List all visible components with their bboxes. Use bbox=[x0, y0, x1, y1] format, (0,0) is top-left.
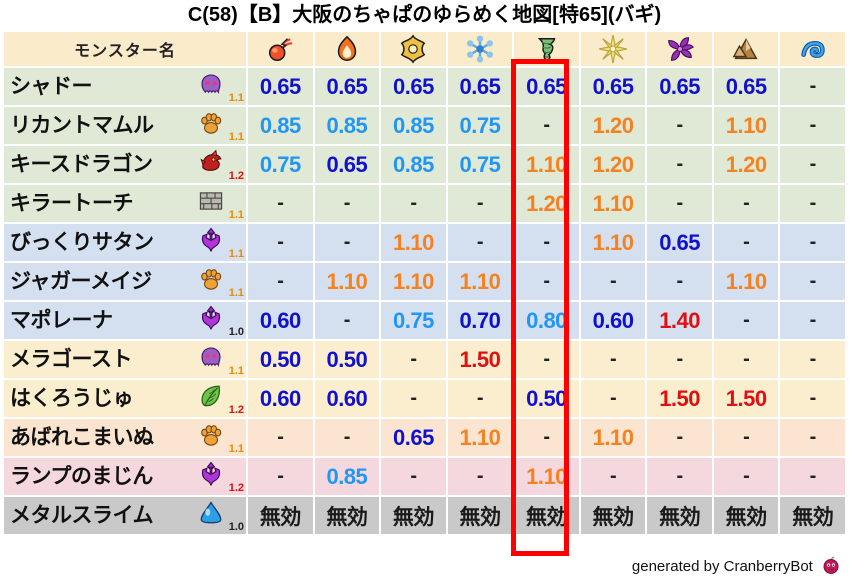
header-element-ヒャド bbox=[448, 32, 513, 66]
resistance-cell: 0.65 bbox=[514, 68, 579, 105]
monster-name-label: ジャガーメイジ bbox=[4, 263, 152, 300]
resistance-cell: 0.60 bbox=[248, 302, 313, 339]
resistance-cell: - bbox=[581, 458, 646, 495]
monster-multiplier: 1.1 bbox=[229, 249, 244, 260]
resistance-cell: - bbox=[714, 341, 779, 378]
monster-name-cell: キラートーチ1.1 bbox=[4, 185, 246, 222]
resistance-cell: 1.50 bbox=[714, 380, 779, 417]
resistance-cell: 無効 bbox=[647, 497, 712, 534]
monster-name-cell: リカントマムル1.1 bbox=[4, 107, 246, 144]
monster-name-label: あばれこまいぬ bbox=[4, 419, 154, 456]
resistance-cell: 1.10 bbox=[381, 224, 446, 261]
resistance-cell: 0.75 bbox=[381, 302, 446, 339]
resistance-cell: 0.85 bbox=[381, 146, 446, 183]
resistance-cell: 1.10 bbox=[448, 263, 513, 300]
resistance-cell: 無効 bbox=[381, 497, 446, 534]
resistance-cell: 0.60 bbox=[248, 380, 313, 417]
resistance-cell: 無効 bbox=[248, 497, 313, 534]
resistance-cell: - bbox=[514, 224, 579, 261]
monster-multiplier: 1.2 bbox=[229, 171, 244, 182]
resistance-cell: 無効 bbox=[714, 497, 779, 534]
header-monster-name: モンスター名 bbox=[4, 32, 246, 66]
resistance-cell: 1.50 bbox=[448, 341, 513, 378]
resistance-cell: 1.20 bbox=[581, 107, 646, 144]
table-row: びっくりサタン1.1--1.10--1.100.65-- bbox=[4, 224, 845, 261]
resistance-cell: 0.80 bbox=[514, 302, 579, 339]
resistance-cell: 0.65 bbox=[448, 68, 513, 105]
resistance-cell: 0.60 bbox=[581, 302, 646, 339]
monster-name-label: リカントマムル bbox=[4, 107, 154, 144]
resistance-cell: - bbox=[780, 185, 845, 222]
resistance-cell: - bbox=[315, 224, 380, 261]
resistance-cell: 1.10 bbox=[514, 146, 579, 183]
resistance-cell: - bbox=[315, 419, 380, 456]
resistance-cell: - bbox=[780, 68, 845, 105]
monster-name-label: ランプのまじん bbox=[4, 458, 153, 495]
resistance-table: モンスター名 シャドー1.10.650.650.650.650.650.650.… bbox=[2, 30, 847, 536]
resistance-cell: 1.10 bbox=[581, 419, 646, 456]
resistance-cell: - bbox=[248, 185, 313, 222]
resistance-cell: 0.50 bbox=[248, 341, 313, 378]
resistance-cell: 1.10 bbox=[381, 263, 446, 300]
monster-multiplier: 1.1 bbox=[229, 210, 244, 221]
resistance-cell: 0.65 bbox=[647, 68, 712, 105]
resistance-cell: - bbox=[714, 224, 779, 261]
footer-credit: generated by CranberryBot bbox=[632, 555, 841, 579]
mountain-icon bbox=[731, 40, 761, 57]
resistance-cell: 1.10 bbox=[581, 185, 646, 222]
wave-icon bbox=[798, 40, 828, 57]
resistance-cell: - bbox=[514, 419, 579, 456]
resistance-cell: 0.65 bbox=[315, 146, 380, 183]
table-row: メラゴースト1.10.500.50-1.50----- bbox=[4, 341, 845, 378]
resistance-cell: - bbox=[381, 380, 446, 417]
resistance-cell: - bbox=[248, 263, 313, 300]
resistance-cell: 0.60 bbox=[315, 380, 380, 417]
snowflake-icon bbox=[465, 40, 495, 57]
monster-name-label: キラートーチ bbox=[4, 185, 133, 222]
header-element-イオ bbox=[381, 32, 446, 66]
resistance-cell: - bbox=[780, 380, 845, 417]
monster-name-cell: ランプのまじん1.2 bbox=[4, 458, 246, 495]
resistance-cell: 1.20 bbox=[514, 185, 579, 222]
monster-name-cell: マポレーナ1.0 bbox=[4, 302, 246, 339]
resistance-cell: - bbox=[714, 185, 779, 222]
resistance-cell: - bbox=[315, 185, 380, 222]
resistance-cell: 1.50 bbox=[647, 380, 712, 417]
resistance-cell: - bbox=[714, 302, 779, 339]
table-row: あばれこまいぬ1.1--0.651.10-1.10--- bbox=[4, 419, 845, 456]
lightning-star-icon bbox=[598, 40, 628, 57]
header-element-ギラ bbox=[315, 32, 380, 66]
table-row: メタルスライム1.0無効無効無効無効無効無効無効無効無効 bbox=[4, 497, 845, 534]
monster-multiplier: 1.0 bbox=[229, 522, 244, 533]
footer-credit-text: generated by CranberryBot bbox=[632, 558, 813, 575]
cranberry-icon bbox=[821, 555, 841, 579]
monster-name-label: はくろうじゅ bbox=[4, 380, 133, 417]
resistance-cell: - bbox=[248, 224, 313, 261]
resistance-cell: - bbox=[581, 263, 646, 300]
resistance-cell: 0.65 bbox=[248, 68, 313, 105]
resistance-cell: - bbox=[780, 458, 845, 495]
monster-multiplier: 1.0 bbox=[229, 327, 244, 338]
resistance-cell: 0.65 bbox=[647, 224, 712, 261]
monster-multiplier: 1.1 bbox=[229, 366, 244, 377]
monster-name-label: シャドー bbox=[4, 68, 92, 105]
resistance-cell: 0.65 bbox=[581, 68, 646, 105]
resistance-cell: - bbox=[647, 107, 712, 144]
resistance-cell: 0.85 bbox=[315, 107, 380, 144]
resistance-cell: - bbox=[780, 263, 845, 300]
monster-multiplier: 1.1 bbox=[229, 444, 244, 455]
monster-multiplier: 1.1 bbox=[229, 93, 244, 104]
resistance-cell: - bbox=[581, 341, 646, 378]
resistance-cell: 1.10 bbox=[714, 263, 779, 300]
resistance-cell: - bbox=[581, 380, 646, 417]
monster-multiplier: 1.2 bbox=[229, 483, 244, 494]
resistance-cell: 0.75 bbox=[448, 146, 513, 183]
table-row: シャドー1.10.650.650.650.650.650.650.650.65- bbox=[4, 68, 845, 105]
table-body: シャドー1.10.650.650.650.650.650.650.650.65-… bbox=[4, 68, 845, 534]
resistance-cell: - bbox=[780, 146, 845, 183]
resistance-cell: - bbox=[780, 419, 845, 456]
page-title: C(58)【B】大阪のちゃぱのゆらめく地図[特65](バギ) bbox=[0, 0, 849, 30]
resistance-cell: 0.50 bbox=[514, 380, 579, 417]
resistance-cell: - bbox=[647, 263, 712, 300]
monster-multiplier: 1.2 bbox=[229, 405, 244, 416]
resistance-cell: - bbox=[248, 458, 313, 495]
explosion-icon bbox=[398, 40, 428, 57]
resistance-cell: 0.85 bbox=[381, 107, 446, 144]
resistance-cell: 1.10 bbox=[581, 224, 646, 261]
monster-name-cell: びっくりサタン1.1 bbox=[4, 224, 246, 261]
resistance-cell: - bbox=[448, 380, 513, 417]
resistance-cell: - bbox=[514, 107, 579, 144]
monster-name-label: キースドラゴン bbox=[4, 146, 152, 183]
header-element-ジバリア bbox=[714, 32, 779, 66]
resistance-cell: - bbox=[315, 302, 380, 339]
resistance-cell: 0.65 bbox=[381, 419, 446, 456]
resistance-cell: - bbox=[647, 185, 712, 222]
resistance-cell: - bbox=[448, 224, 513, 261]
resistance-cell: - bbox=[780, 107, 845, 144]
table-row: リカントマムル1.10.850.850.850.75-1.20-1.10- bbox=[4, 107, 845, 144]
resistance-cell: - bbox=[714, 419, 779, 456]
resistance-cell: 1.40 bbox=[647, 302, 712, 339]
resistance-cell: 0.65 bbox=[381, 68, 446, 105]
table-row: キラートーチ1.1----1.201.10--- bbox=[4, 185, 845, 222]
header-element-ドルマ bbox=[647, 32, 712, 66]
header-monster-name-label: モンスター名 bbox=[74, 43, 176, 60]
header-element-ドルイド bbox=[780, 32, 845, 66]
resistance-cell: 0.85 bbox=[248, 107, 313, 144]
resistance-cell: - bbox=[248, 419, 313, 456]
monster-multiplier: 1.1 bbox=[229, 132, 244, 143]
resistance-cell: 1.10 bbox=[514, 458, 579, 495]
resistance-cell: - bbox=[780, 341, 845, 378]
resistance-cell: 1.10 bbox=[714, 107, 779, 144]
resistance-cell: 1.20 bbox=[581, 146, 646, 183]
resistance-cell: 1.10 bbox=[448, 419, 513, 456]
resistance-cell: - bbox=[381, 458, 446, 495]
resistance-cell: 0.70 bbox=[448, 302, 513, 339]
table-row: ランプのまじん1.2-0.85--1.10---- bbox=[4, 458, 845, 495]
resistance-table-wrapper: モンスター名 シャドー1.10.650.650.650.650.650.650.… bbox=[0, 30, 849, 536]
monster-name-cell: はくろうじゅ1.2 bbox=[4, 380, 246, 417]
resistance-cell: - bbox=[780, 224, 845, 261]
monster-name-cell: あばれこまいぬ1.1 bbox=[4, 419, 246, 456]
flame-icon bbox=[332, 40, 362, 57]
resistance-cell: 1.10 bbox=[315, 263, 380, 300]
monster-name-cell: シャドー1.1 bbox=[4, 68, 246, 105]
table-header-row: モンスター名 bbox=[4, 32, 845, 66]
header-element-デイン bbox=[581, 32, 646, 66]
monster-multiplier: 1.1 bbox=[229, 288, 244, 299]
resistance-cell: 0.65 bbox=[315, 68, 380, 105]
header-element-メラ bbox=[248, 32, 313, 66]
resistance-cell: - bbox=[647, 146, 712, 183]
table-row: マポレーナ1.00.60-0.750.700.800.601.40-- bbox=[4, 302, 845, 339]
resistance-cell: 1.20 bbox=[714, 146, 779, 183]
resistance-cell: 無効 bbox=[780, 497, 845, 534]
monster-name-label: マポレーナ bbox=[4, 302, 113, 339]
resistance-cell: 0.85 bbox=[315, 458, 380, 495]
resistance-cell: - bbox=[381, 341, 446, 378]
resistance-cell: - bbox=[714, 458, 779, 495]
monster-name-cell: メタルスライム1.0 bbox=[4, 497, 246, 534]
resistance-cell: 0.75 bbox=[448, 107, 513, 144]
resistance-cell: 無効 bbox=[315, 497, 380, 534]
monster-name-cell: キースドラゴン1.2 bbox=[4, 146, 246, 183]
resistance-cell: - bbox=[647, 419, 712, 456]
header-element-バギ bbox=[514, 32, 579, 66]
meteor-fire-icon bbox=[265, 40, 295, 57]
tornado-icon bbox=[532, 40, 562, 57]
table-row: はくろうじゅ1.20.600.60--0.50-1.501.50- bbox=[4, 380, 845, 417]
table-row: キースドラゴン1.20.750.650.850.751.101.20-1.20- bbox=[4, 146, 845, 183]
monster-name-label: メラゴースト bbox=[4, 341, 132, 378]
resistance-cell: 0.75 bbox=[248, 146, 313, 183]
resistance-cell: 無効 bbox=[581, 497, 646, 534]
monster-name-label: びっくりサタン bbox=[4, 224, 154, 261]
resistance-cell: - bbox=[514, 263, 579, 300]
pinwheel-dark-icon bbox=[665, 40, 695, 57]
monster-name-cell: メラゴースト1.1 bbox=[4, 341, 246, 378]
monster-name-label: メタルスライム bbox=[4, 497, 153, 534]
resistance-cell: - bbox=[448, 185, 513, 222]
resistance-cell: - bbox=[514, 341, 579, 378]
resistance-cell: - bbox=[448, 458, 513, 495]
resistance-cell: 0.65 bbox=[714, 68, 779, 105]
table-row: ジャガーメイジ1.1-1.101.101.10---1.10- bbox=[4, 263, 845, 300]
resistance-cell: - bbox=[647, 341, 712, 378]
resistance-cell: - bbox=[780, 302, 845, 339]
resistance-cell: 無効 bbox=[448, 497, 513, 534]
resistance-cell: - bbox=[647, 458, 712, 495]
resistance-cell: - bbox=[381, 185, 446, 222]
resistance-cell: 無効 bbox=[514, 497, 579, 534]
monster-name-cell: ジャガーメイジ1.1 bbox=[4, 263, 246, 300]
resistance-cell: 0.50 bbox=[315, 341, 380, 378]
